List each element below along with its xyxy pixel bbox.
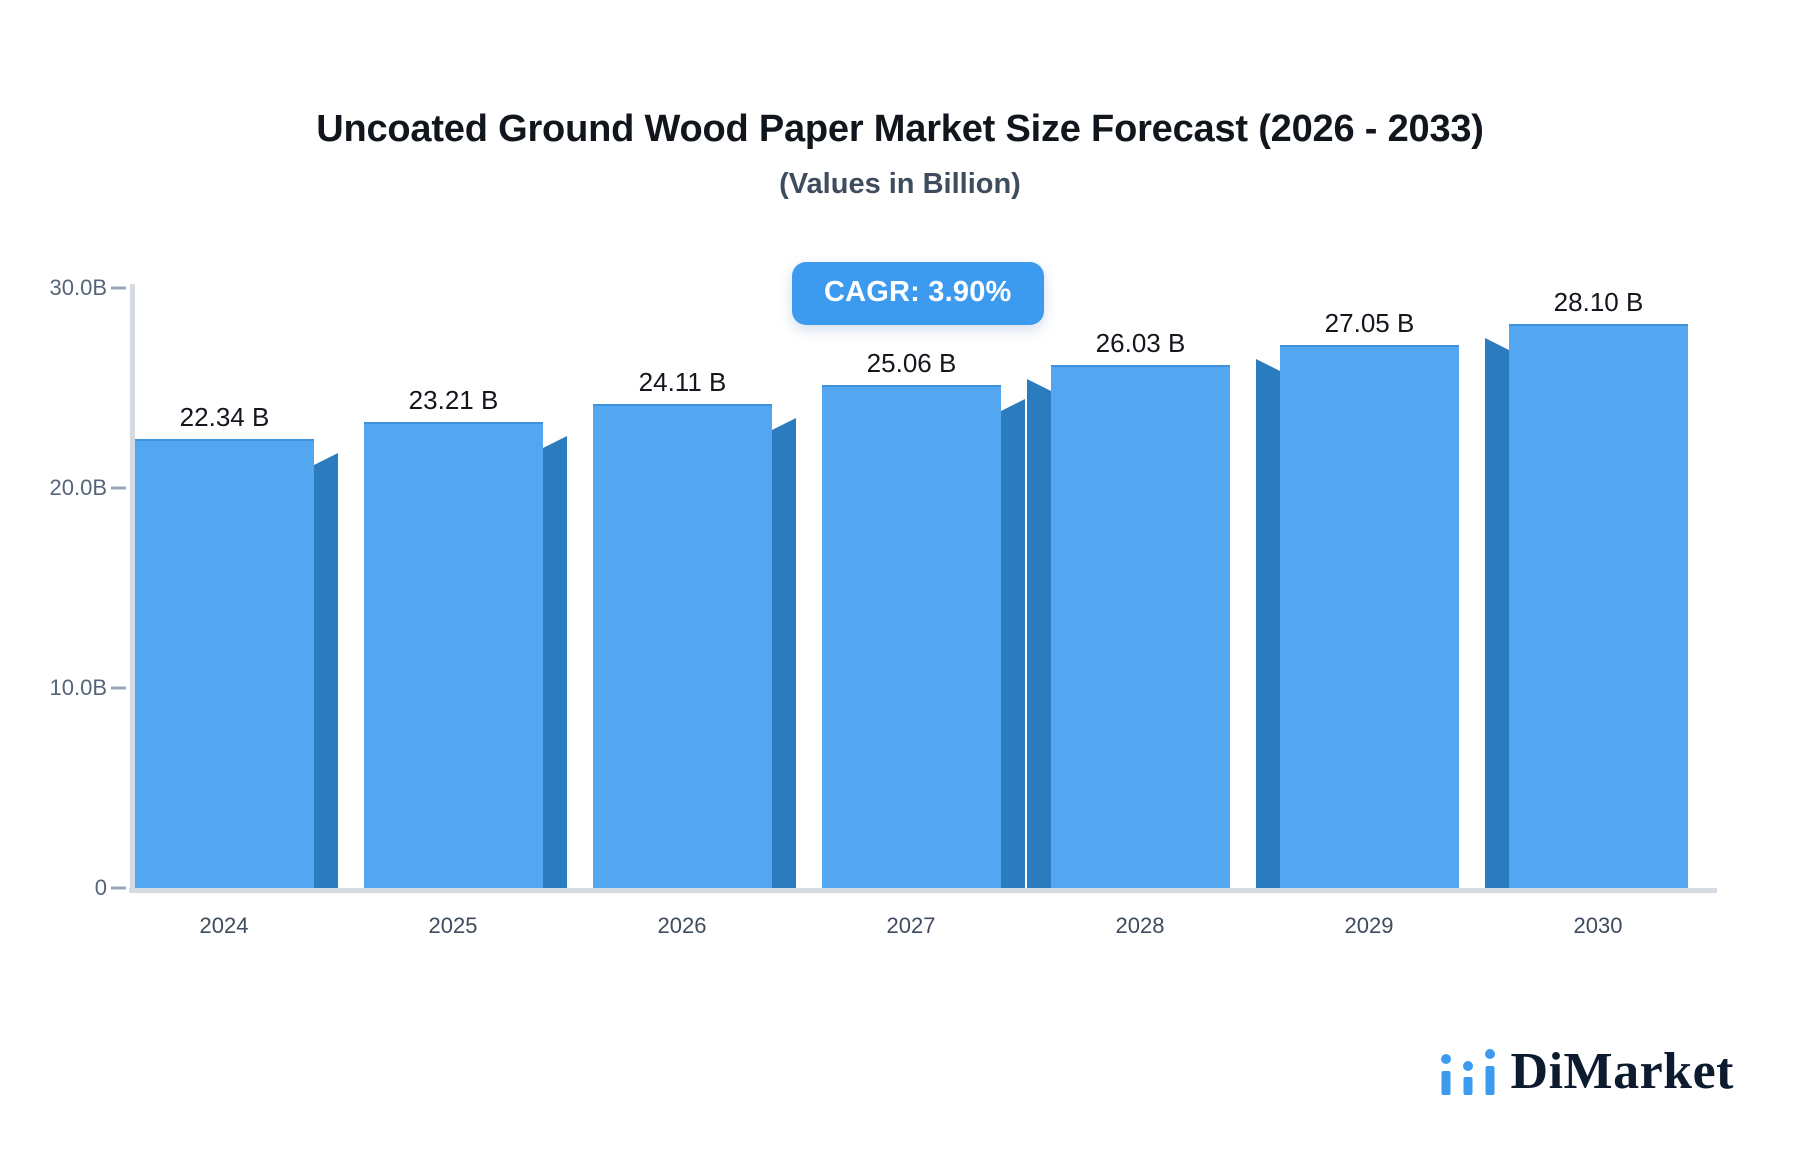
bar-value-label: 24.11 B <box>639 367 727 398</box>
bar-side-shadow <box>1001 399 1025 888</box>
bar-front[interactable] <box>1509 324 1688 888</box>
bar-group[interactable]: 24.11 B <box>593 406 772 888</box>
title-block: Uncoated Ground Wood Paper Market Size F… <box>0 108 1800 201</box>
y-axis-tick-mark <box>111 287 126 290</box>
bar-front[interactable] <box>822 385 1001 888</box>
cagr-badge: CAGR: 3.90% <box>792 262 1044 325</box>
bar-side-shadow <box>1256 359 1280 888</box>
bar-front[interactable] <box>1051 365 1230 888</box>
x-axis-label-2028: 2028 <box>1116 913 1165 939</box>
bar-value-label: 22.34 B <box>180 402 270 433</box>
bar-side-shadow <box>314 453 338 888</box>
chart-subtitle: (Values in Billion) <box>0 168 1800 201</box>
brand-logo: DiMarket <box>1439 1046 1734 1098</box>
bar-front[interactable] <box>1280 345 1459 888</box>
x-axis-label-2030: 2030 <box>1574 913 1623 939</box>
chart-title: Uncoated Ground Wood Paper Market Size F… <box>0 108 1800 152</box>
plot-area: 30.0B 20.0B 10.0B 0 22.34 B 23.21 B 24.1… <box>133 288 1713 888</box>
x-axis-label-2024: 2024 <box>200 913 249 939</box>
bar-group[interactable]: 26.03 B <box>1051 367 1230 888</box>
bar-group[interactable]: 27.05 B <box>1280 347 1459 888</box>
bar-value-label: 26.03 B <box>1096 328 1186 359</box>
bar-side-shadow <box>772 418 796 888</box>
y-axis-tick-mark <box>111 487 126 490</box>
y-axis-tick-mark <box>111 887 126 890</box>
bar-side-shadow <box>1027 379 1051 888</box>
x-axis-line <box>129 888 1717 893</box>
x-axis-label-2025: 2025 <box>429 913 478 939</box>
y-axis-tick-mark <box>111 687 126 690</box>
bar-value-label: 25.06 B <box>867 348 957 379</box>
x-axis-label-2026: 2026 <box>658 913 707 939</box>
y-axis-tick-label: 30.0B <box>0 275 107 301</box>
y-axis-tick-label: 20.0B <box>0 475 107 501</box>
bar-value-label: 23.21 B <box>409 385 499 416</box>
bar-value-label: 28.10 B <box>1554 287 1644 318</box>
y-axis-tick-label: 0 <box>0 875 107 901</box>
bar-value-label: 27.05 B <box>1325 308 1415 339</box>
bar-side-shadow <box>1485 338 1509 888</box>
bar-front[interactable] <box>593 404 772 888</box>
chart-canvas: Uncoated Ground Wood Paper Market Size F… <box>0 0 1800 1156</box>
bar-group[interactable]: 22.34 B <box>135 441 314 888</box>
bar-side-shadow <box>543 436 567 888</box>
brand-logo-text: DiMarket <box>1511 1046 1734 1098</box>
bar-front[interactable] <box>135 439 314 888</box>
bar-group[interactable]: 23.21 B <box>364 424 543 888</box>
x-axis-label-2027: 2027 <box>887 913 936 939</box>
x-axis-label-2029: 2029 <box>1345 913 1394 939</box>
bar-group[interactable]: 28.10 B <box>1509 326 1688 888</box>
bar-group[interactable]: 25.06 B <box>822 387 1001 888</box>
bar-front[interactable] <box>364 422 543 888</box>
bar-chart-icon <box>1439 1047 1497 1097</box>
y-axis-tick-label: 10.0B <box>0 675 107 701</box>
